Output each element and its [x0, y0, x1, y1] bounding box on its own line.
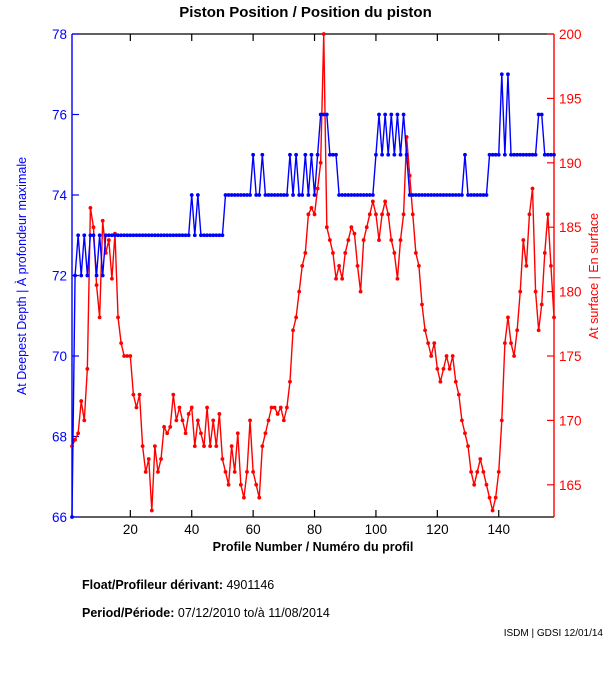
data-point — [227, 483, 231, 487]
data-point — [353, 232, 357, 236]
data-point — [414, 251, 418, 255]
data-point — [138, 393, 142, 397]
data-point — [248, 193, 252, 197]
data-point — [475, 470, 479, 474]
data-point — [310, 206, 314, 210]
chart-figure: Piston Position / Position du piston 204… — [0, 0, 611, 675]
data-point — [546, 212, 550, 216]
data-point — [325, 113, 329, 117]
data-point — [509, 341, 513, 345]
data-point — [463, 153, 467, 157]
data-point — [153, 444, 157, 448]
data-point — [251, 153, 255, 157]
data-point — [184, 431, 188, 435]
data-point — [402, 113, 406, 117]
data-point — [144, 470, 148, 474]
data-point — [303, 251, 307, 255]
data-point — [432, 341, 436, 345]
data-point — [95, 274, 99, 278]
data-point — [442, 367, 446, 371]
data-point — [193, 444, 197, 448]
y-right-axis-label: At surface | En surface — [587, 213, 601, 339]
data-point — [328, 238, 332, 242]
data-point — [264, 431, 268, 435]
data-point — [383, 200, 387, 204]
data-point — [322, 32, 326, 36]
data-point — [187, 412, 191, 416]
data-point — [540, 303, 544, 307]
data-point — [98, 315, 102, 319]
data-point — [460, 193, 464, 197]
data-point — [245, 470, 249, 474]
data-point — [147, 457, 151, 461]
data-point — [497, 470, 501, 474]
data-point — [534, 290, 538, 294]
data-point — [92, 225, 96, 229]
data-point — [205, 406, 209, 410]
data-point — [420, 303, 424, 307]
y-right-tick-label: 165 — [559, 478, 582, 493]
y-left-tick-label: 66 — [52, 510, 67, 525]
data-point — [230, 444, 234, 448]
x-axis-ticks: 20406080100120140 — [123, 34, 510, 537]
data-point — [340, 277, 344, 281]
data-point — [273, 406, 277, 410]
data-point — [515, 328, 519, 332]
data-point — [242, 496, 246, 500]
x-tick-label: 20 — [123, 522, 138, 537]
period-label: Period/Période: — [82, 606, 174, 620]
data-point — [552, 153, 556, 157]
data-point — [257, 496, 261, 500]
data-point — [313, 193, 317, 197]
data-point — [485, 193, 489, 197]
data-point — [116, 315, 120, 319]
data-point — [466, 444, 470, 448]
data-point — [392, 251, 396, 255]
data-point — [469, 470, 473, 474]
x-tick-label: 60 — [246, 522, 261, 537]
data-point — [371, 193, 375, 197]
data-point — [79, 399, 83, 403]
data-point — [82, 233, 86, 237]
data-point — [211, 419, 215, 423]
data-point — [89, 206, 93, 210]
data-point — [199, 431, 203, 435]
data-point — [135, 406, 139, 410]
data-point — [543, 251, 547, 255]
data-point — [288, 153, 292, 157]
data-point — [371, 200, 375, 204]
data-point — [95, 283, 99, 287]
data-point — [337, 264, 341, 268]
y-left-axis-label: At Deepest Depth | À profondeur maximale — [14, 157, 29, 395]
data-point — [528, 212, 532, 216]
float-line: Float/Profileur dérivant: 4901146 — [82, 578, 274, 592]
data-point — [460, 419, 464, 423]
data-point — [98, 233, 102, 237]
data-point — [383, 113, 387, 117]
data-point — [503, 341, 507, 345]
data-point — [190, 406, 194, 410]
data-point — [171, 393, 175, 397]
data-point — [251, 470, 255, 474]
data-point — [506, 315, 510, 319]
data-point — [73, 274, 77, 278]
data-point — [162, 425, 166, 429]
float-label: Float/Profileur dérivant: — [82, 578, 223, 592]
y-left-tick-label: 70 — [52, 349, 67, 364]
data-point — [497, 153, 501, 157]
data-point — [411, 212, 415, 216]
plot-frame — [72, 34, 554, 517]
data-point — [531, 187, 535, 191]
data-point — [165, 431, 169, 435]
data-point — [396, 113, 400, 117]
data-point — [399, 153, 403, 157]
data-point — [485, 483, 489, 487]
data-point — [389, 238, 393, 242]
data-point — [300, 264, 304, 268]
data-point — [239, 483, 243, 487]
data-point — [500, 419, 504, 423]
y-left-tick-label: 72 — [52, 269, 67, 284]
data-point — [552, 315, 556, 319]
data-point — [310, 153, 314, 157]
data-point — [279, 406, 283, 410]
data-point — [276, 412, 280, 416]
data-point — [319, 161, 323, 165]
y-right-tick-label: 195 — [559, 91, 582, 106]
data-point — [85, 367, 89, 371]
data-point — [316, 153, 320, 157]
y-right-axis-ticks: 165170175180185190195200 — [547, 27, 582, 493]
data-point — [178, 406, 182, 410]
data-point — [110, 277, 114, 281]
data-point — [316, 187, 320, 191]
data-point — [374, 153, 378, 157]
data-point — [208, 444, 212, 448]
data-point — [448, 367, 452, 371]
data-point — [402, 212, 406, 216]
y-right-tick-label: 190 — [559, 156, 582, 171]
data-point — [85, 274, 89, 278]
data-point — [257, 193, 261, 197]
data-point — [334, 277, 338, 281]
data-point — [76, 431, 80, 435]
data-point — [196, 193, 200, 197]
data-point — [267, 419, 271, 423]
data-point — [534, 153, 538, 157]
data-point — [288, 380, 292, 384]
data-point — [380, 212, 384, 216]
data-point — [285, 193, 289, 197]
data-point — [331, 251, 335, 255]
data-point — [349, 225, 353, 229]
data-point — [217, 412, 221, 416]
credit-text: ISDM | GDSI 12/01/14 — [504, 628, 603, 639]
data-point — [236, 431, 240, 435]
data-point — [500, 72, 504, 76]
data-point — [346, 238, 350, 242]
data-point — [451, 354, 455, 358]
data-point — [187, 233, 191, 237]
data-point — [70, 515, 74, 519]
data-point — [156, 470, 160, 474]
data-point — [389, 113, 393, 117]
data-point — [429, 354, 433, 358]
data-point — [365, 225, 369, 229]
data-point — [377, 113, 381, 117]
data-point — [521, 238, 525, 242]
data-point — [325, 225, 329, 229]
data-point — [128, 354, 132, 358]
data-point — [380, 153, 384, 157]
data-point — [291, 328, 295, 332]
data-point — [386, 153, 390, 157]
data-point — [377, 238, 381, 242]
data-point — [303, 153, 307, 157]
data-point — [463, 431, 467, 435]
y-right-tick-label: 185 — [559, 220, 582, 235]
x-tick-label: 100 — [365, 522, 388, 537]
data-point — [396, 277, 400, 281]
series-line — [72, 34, 554, 511]
data-point — [512, 354, 516, 358]
data-point — [291, 193, 295, 197]
data-point — [445, 354, 449, 358]
data-point — [294, 315, 298, 319]
data-point — [417, 264, 421, 268]
period-value: 07/12/2010 to/à 11/08/2014 — [178, 606, 330, 620]
data-point — [132, 393, 136, 397]
data-point — [107, 238, 111, 242]
data-point — [168, 425, 172, 429]
data-point — [202, 444, 206, 448]
x-tick-label: 120 — [426, 522, 449, 537]
series-line — [72, 74, 554, 517]
data-point — [79, 274, 83, 278]
data-point — [518, 290, 522, 294]
data-point — [196, 419, 200, 423]
data-point — [221, 233, 225, 237]
data-point — [356, 264, 360, 268]
data-point — [214, 444, 218, 448]
data-point — [254, 483, 258, 487]
data-point — [82, 419, 86, 423]
data-point — [248, 419, 252, 423]
data-point — [150, 509, 154, 513]
data-point — [506, 72, 510, 76]
data-point — [221, 457, 225, 461]
data-point — [439, 380, 443, 384]
data-point — [386, 212, 390, 216]
data-point — [141, 444, 145, 448]
x-tick-label: 140 — [487, 522, 510, 537]
data-point — [76, 233, 80, 237]
x-tick-label: 80 — [307, 522, 322, 537]
data-point — [457, 393, 461, 397]
data-point — [524, 264, 528, 268]
data-point — [549, 264, 553, 268]
data-point — [285, 406, 289, 410]
y-left-tick-label: 76 — [52, 108, 67, 123]
y-right-tick-label: 175 — [559, 349, 582, 364]
data-point — [435, 367, 439, 371]
data-point — [297, 290, 301, 294]
x-axis-label: Profile Number / Numéro du profil — [213, 540, 414, 554]
data-point — [224, 470, 228, 474]
data-point — [478, 457, 482, 461]
data-point — [306, 193, 310, 197]
float-value: 4901146 — [226, 578, 274, 592]
y-left-tick-label: 78 — [52, 27, 67, 42]
data-point — [181, 419, 185, 423]
data-point — [101, 219, 105, 223]
data-point — [362, 238, 366, 242]
data-point — [491, 509, 495, 513]
y-right-tick-label: 180 — [559, 285, 582, 300]
y-left-tick-label: 68 — [52, 430, 67, 445]
data-point — [405, 153, 409, 157]
x-tick-label: 40 — [184, 522, 199, 537]
data-point — [374, 212, 378, 216]
data-point — [454, 380, 458, 384]
data-point — [488, 496, 492, 500]
y-right-tick-label: 170 — [559, 413, 582, 428]
series-at-surface — [70, 32, 556, 512]
data-point — [399, 238, 403, 242]
data-point — [233, 470, 237, 474]
data-point — [190, 193, 194, 197]
data-point — [481, 470, 485, 474]
data-point — [306, 212, 310, 216]
y-left-tick-label: 74 — [52, 188, 68, 203]
data-point — [392, 153, 396, 157]
data-point — [368, 212, 372, 216]
data-point — [260, 153, 264, 157]
data-point — [101, 274, 105, 278]
data-point — [503, 153, 507, 157]
data-point — [300, 193, 304, 197]
plot-area: 20406080100120140 66687072747678 1651701… — [0, 0, 611, 560]
data-point — [159, 457, 163, 461]
data-point — [73, 438, 77, 442]
data-point — [174, 419, 178, 423]
data-point — [537, 328, 541, 332]
data-point — [359, 290, 363, 294]
data-point — [540, 113, 544, 117]
data-point — [119, 341, 123, 345]
data-point — [193, 233, 197, 237]
data-point — [282, 419, 286, 423]
data-point — [92, 233, 96, 237]
data-point — [423, 328, 427, 332]
y-right-tick-label: 200 — [559, 27, 582, 42]
data-point — [260, 444, 264, 448]
data-point — [472, 483, 476, 487]
data-point — [313, 212, 317, 216]
data-point — [334, 153, 338, 157]
data-point — [343, 251, 347, 255]
data-point — [494, 496, 498, 500]
data-point — [294, 153, 298, 157]
period-line: Period/Période: 07/12/2010 to/à 11/08/20… — [82, 606, 330, 620]
data-point — [426, 341, 430, 345]
